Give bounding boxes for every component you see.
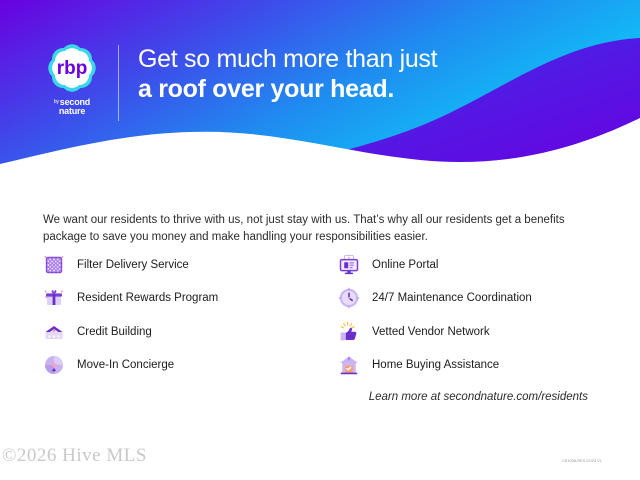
benefit-label: Credit Building	[77, 326, 152, 338]
intro-paragraph: We want our residents to thrive with us,…	[43, 212, 588, 246]
document-code-microprint: CS1008-RES 02/24 V1	[562, 459, 602, 463]
headline-line-1: Get so much more than just	[138, 44, 437, 74]
benefit-item-online-portal: Online Portal	[338, 248, 598, 282]
benefit-item-home-buying-assistance: Home Buying Assistance	[338, 349, 598, 383]
logo-brand-line2: nature	[59, 106, 85, 116]
benefit-label: Move-In Concierge	[77, 359, 174, 371]
clock-icon	[338, 287, 360, 309]
benefit-item-credit-building: Credit Building	[43, 315, 338, 349]
rbp-rosette-icon: rbp	[44, 40, 100, 96]
benefit-item-resident-rewards-program: Resident Rewards Program	[43, 282, 338, 316]
benefit-item-move-in-concierge: Move-In Concierge	[43, 349, 338, 383]
house-icon	[338, 354, 360, 376]
copyright-watermark: ©2026 Hive MLS	[2, 445, 147, 467]
rbp-wordmark: rbp	[57, 58, 88, 79]
logo-subtext: bysecond nature	[33, 98, 111, 116]
logo-by-word: by	[54, 99, 59, 105]
benefit-item-vetted-vendor-network: Vetted Vendor Network	[338, 315, 598, 349]
thumbs-up-icon	[338, 321, 360, 343]
benefit-label: Filter Delivery Service	[77, 259, 189, 271]
benefits-column-left: Filter Delivery Service Resident Rewards…	[43, 248, 338, 382]
benefit-item-filter-delivery-service: Filter Delivery Service	[43, 248, 338, 282]
filter-grid-icon	[43, 254, 65, 276]
monitor-icon	[338, 254, 360, 276]
benefits-column-right: Online Portal 24/7 Maintenance Coordinat…	[338, 248, 598, 382]
benefit-label: Online Portal	[372, 259, 438, 271]
rbp-logo: rbp bysecond nature	[33, 40, 111, 120]
benefit-label: Vetted Vendor Network	[372, 326, 490, 338]
logo-divider	[118, 45, 119, 121]
benefit-label: 24/7 Maintenance Coordination	[372, 292, 532, 304]
benefit-label: Resident Rewards Program	[77, 292, 218, 304]
benefit-label: Home Buying Assistance	[372, 359, 499, 371]
headline: Get so much more than just a roof over y…	[138, 44, 437, 104]
learn-more-text: Learn more at secondnature.com/residents	[369, 391, 588, 403]
compass-icon	[43, 354, 65, 376]
benefit-item-maintenance-coordination: 24/7 Maintenance Coordination	[338, 282, 598, 316]
headline-line-2: a roof over your head.	[138, 74, 437, 104]
gift-box-icon	[43, 287, 65, 309]
credit-card-icon	[43, 321, 65, 343]
header-banner: rbp bysecond nature Get so much more tha…	[0, 0, 640, 190]
